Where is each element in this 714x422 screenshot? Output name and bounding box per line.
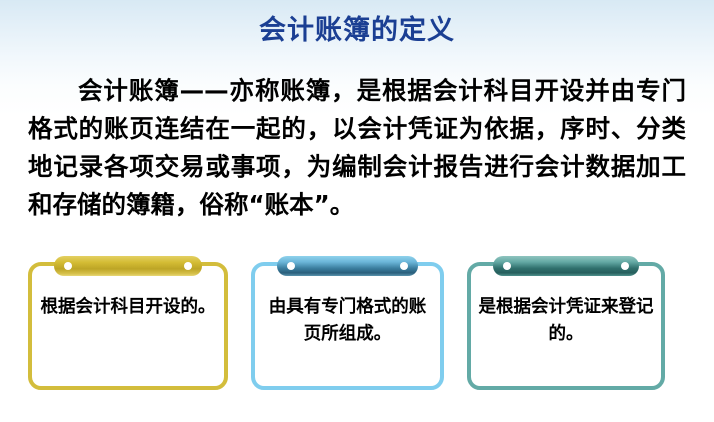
card-frame <box>28 262 228 390</box>
hole-icon-left <box>503 262 511 270</box>
feature-card-row: 根据会计科目开设的。 由具有专门格式的账页所组成。 是根据会计凭证来登记的。 <box>0 256 714 396</box>
card-hanger-bar <box>54 256 202 276</box>
definition-paragraph: 会计账簿——亦称账簿，是根据会计科目开设并由专门格式的账页连结在一起的，以会计凭… <box>28 72 686 224</box>
hole-icon-left <box>64 262 72 270</box>
slide-canvas: 会计账簿的定义 会计账簿——亦称账簿，是根据会计科目开设并由专门格式的账页连结在… <box>0 0 714 422</box>
card-text: 由具有专门格式的账页所组成。 <box>261 294 434 348</box>
card-hanger-bar <box>277 256 418 276</box>
hole-icon-right <box>184 262 192 270</box>
card-voucher-registration[interactable]: 是根据会计凭证来登记的。 <box>467 256 665 390</box>
card-text: 根据会计科目开设的。 <box>38 294 218 321</box>
hole-icon-left <box>287 262 295 270</box>
page-title: 会计账簿的定义 <box>0 14 714 48</box>
hole-icon-right <box>621 262 629 270</box>
card-hanger-bar <box>493 256 639 276</box>
card-accounting-subject[interactable]: 根据会计科目开设的。 <box>28 256 228 390</box>
hole-icon-right <box>400 262 408 270</box>
card-special-format-pages[interactable]: 由具有专门格式的账页所组成。 <box>251 256 444 390</box>
card-text: 是根据会计凭证来登记的。 <box>477 294 655 348</box>
